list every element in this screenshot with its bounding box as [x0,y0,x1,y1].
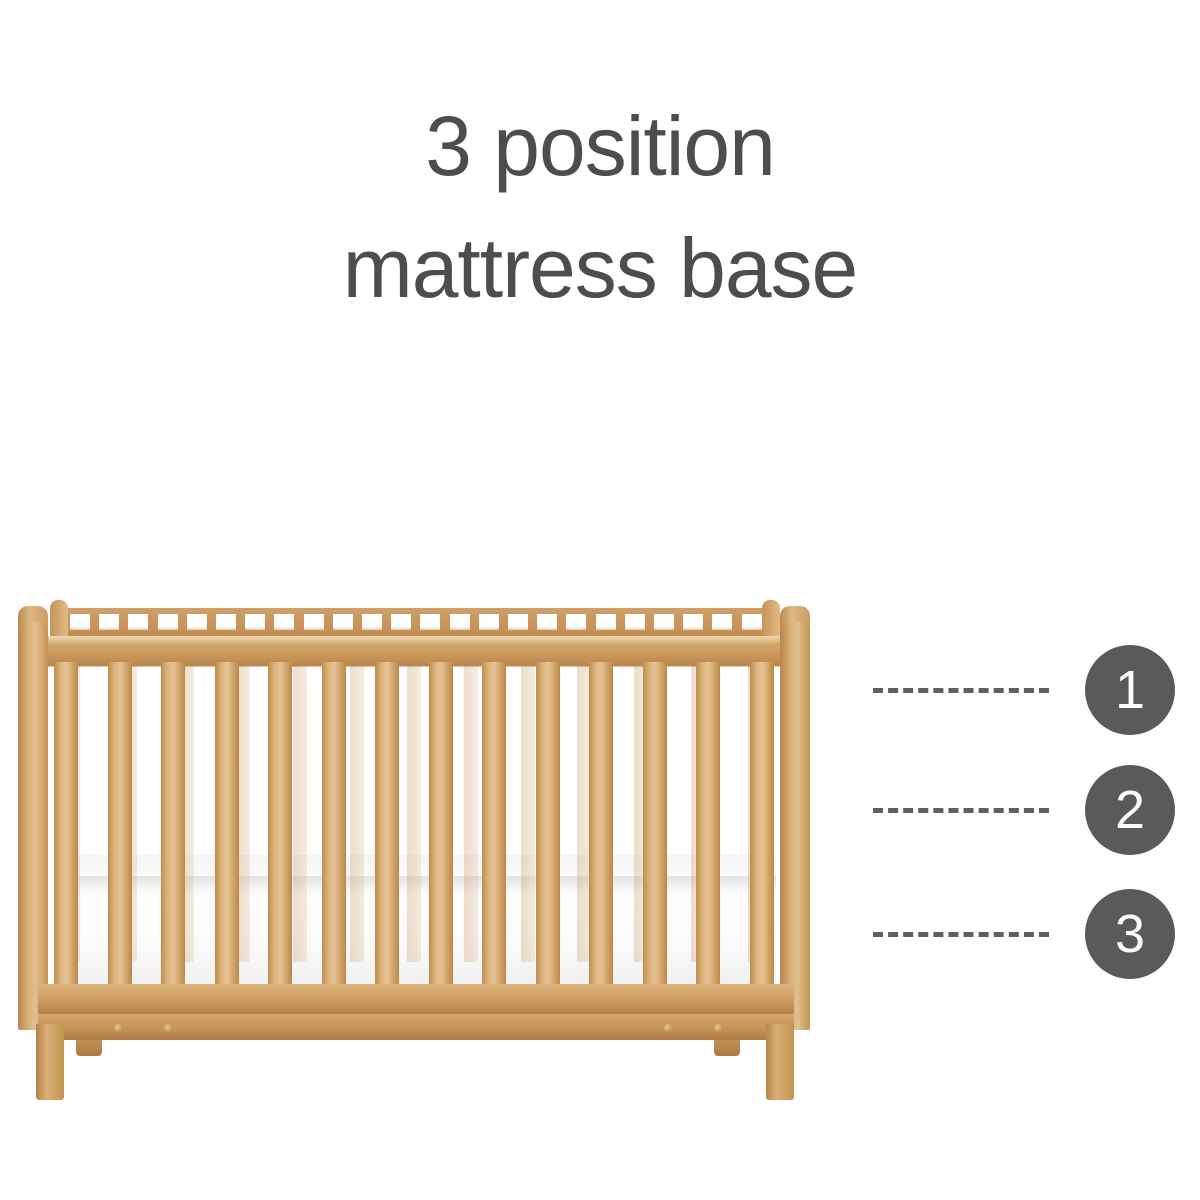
crib-back-rail-gap [304,614,324,630]
crib-slat [643,662,667,984]
crib-slat [536,662,560,984]
crib-slat [429,662,453,984]
crib-slat [108,662,132,984]
crib-back-rail-gap [158,614,178,630]
crib-back-rail-gap [274,614,294,630]
crib-back-rail-gap [450,614,470,630]
crib-slat [482,662,506,984]
crib-back-rail-gap [216,614,236,630]
crib-back-rail-gap [128,614,148,630]
position-badge-3[interactable]: 3 [1085,889,1175,979]
crib-top-rail-highlight [44,636,786,644]
crib-slat [215,662,239,984]
crib-bottom-rail [38,984,794,1014]
crib-slat [696,662,720,984]
dashed-leader-line-3 [873,932,1049,937]
crib-slat [322,662,346,984]
crib-bottom-rail-lower [38,1014,794,1040]
crib-back-rail-gap [712,614,732,630]
crib-corner-post-right [780,622,810,1030]
crib-slat [589,662,613,984]
crib-slat [161,662,185,984]
crib-back-rail-gap [70,614,90,630]
position-badge-2[interactable]: 2 [1085,765,1175,855]
crib-front-slats [54,662,774,984]
crib-slat [54,662,78,984]
page-title: 3 position mattress base [0,86,1200,330]
crib-back-rail-gap [596,614,616,630]
crib-back-rail-gap [187,614,207,630]
crib-bracket-right [714,1040,740,1056]
crib-back-rail-gap [333,614,353,630]
crib-back-rail-gap [742,614,762,630]
marker-row-1: 1 [860,644,1190,736]
crib-leg-left [36,1024,64,1100]
dashed-leader-line-2 [873,808,1049,813]
crib-screw [114,1024,123,1033]
crib-back-rail-gap [566,614,586,630]
crib-back-rail-gap [245,614,265,630]
crib-back-rail-gap [508,614,528,630]
crib-screw [164,1024,173,1033]
crib-corner-post-left [18,622,48,1030]
crib-screw [664,1024,673,1033]
marker-row-2: 2 [860,764,1190,856]
crib-back-rail-gap [420,614,440,630]
crib-slat [268,662,292,984]
crib-back-rail-gap [683,614,703,630]
crib-back-rail-gap [362,614,382,630]
crib-back-rail-gap [654,614,674,630]
crib-back-rail-gap [391,614,411,630]
crib-back-rail-gap [479,614,499,630]
crib-slat [375,662,399,984]
mattress-position-markers: 1 2 3 [860,630,1190,1010]
crib-illustration [14,600,814,1100]
dashed-leader-line-1 [873,688,1049,693]
crib-back-rail-gap [625,614,645,630]
marker-row-3: 3 [860,888,1190,980]
crib-screw [714,1024,723,1033]
crib-slat [750,662,774,984]
crib-back-rail-gap [537,614,557,630]
crib-back-rail-gap [99,614,119,630]
crib-back-slat-gaps [70,614,762,630]
crib-back-post-right [762,600,780,640]
crib-leg-right [766,1024,794,1100]
crib-bracket-left [76,1040,102,1056]
crib-back-post-left [50,600,68,640]
position-badge-1[interactable]: 1 [1085,645,1175,735]
